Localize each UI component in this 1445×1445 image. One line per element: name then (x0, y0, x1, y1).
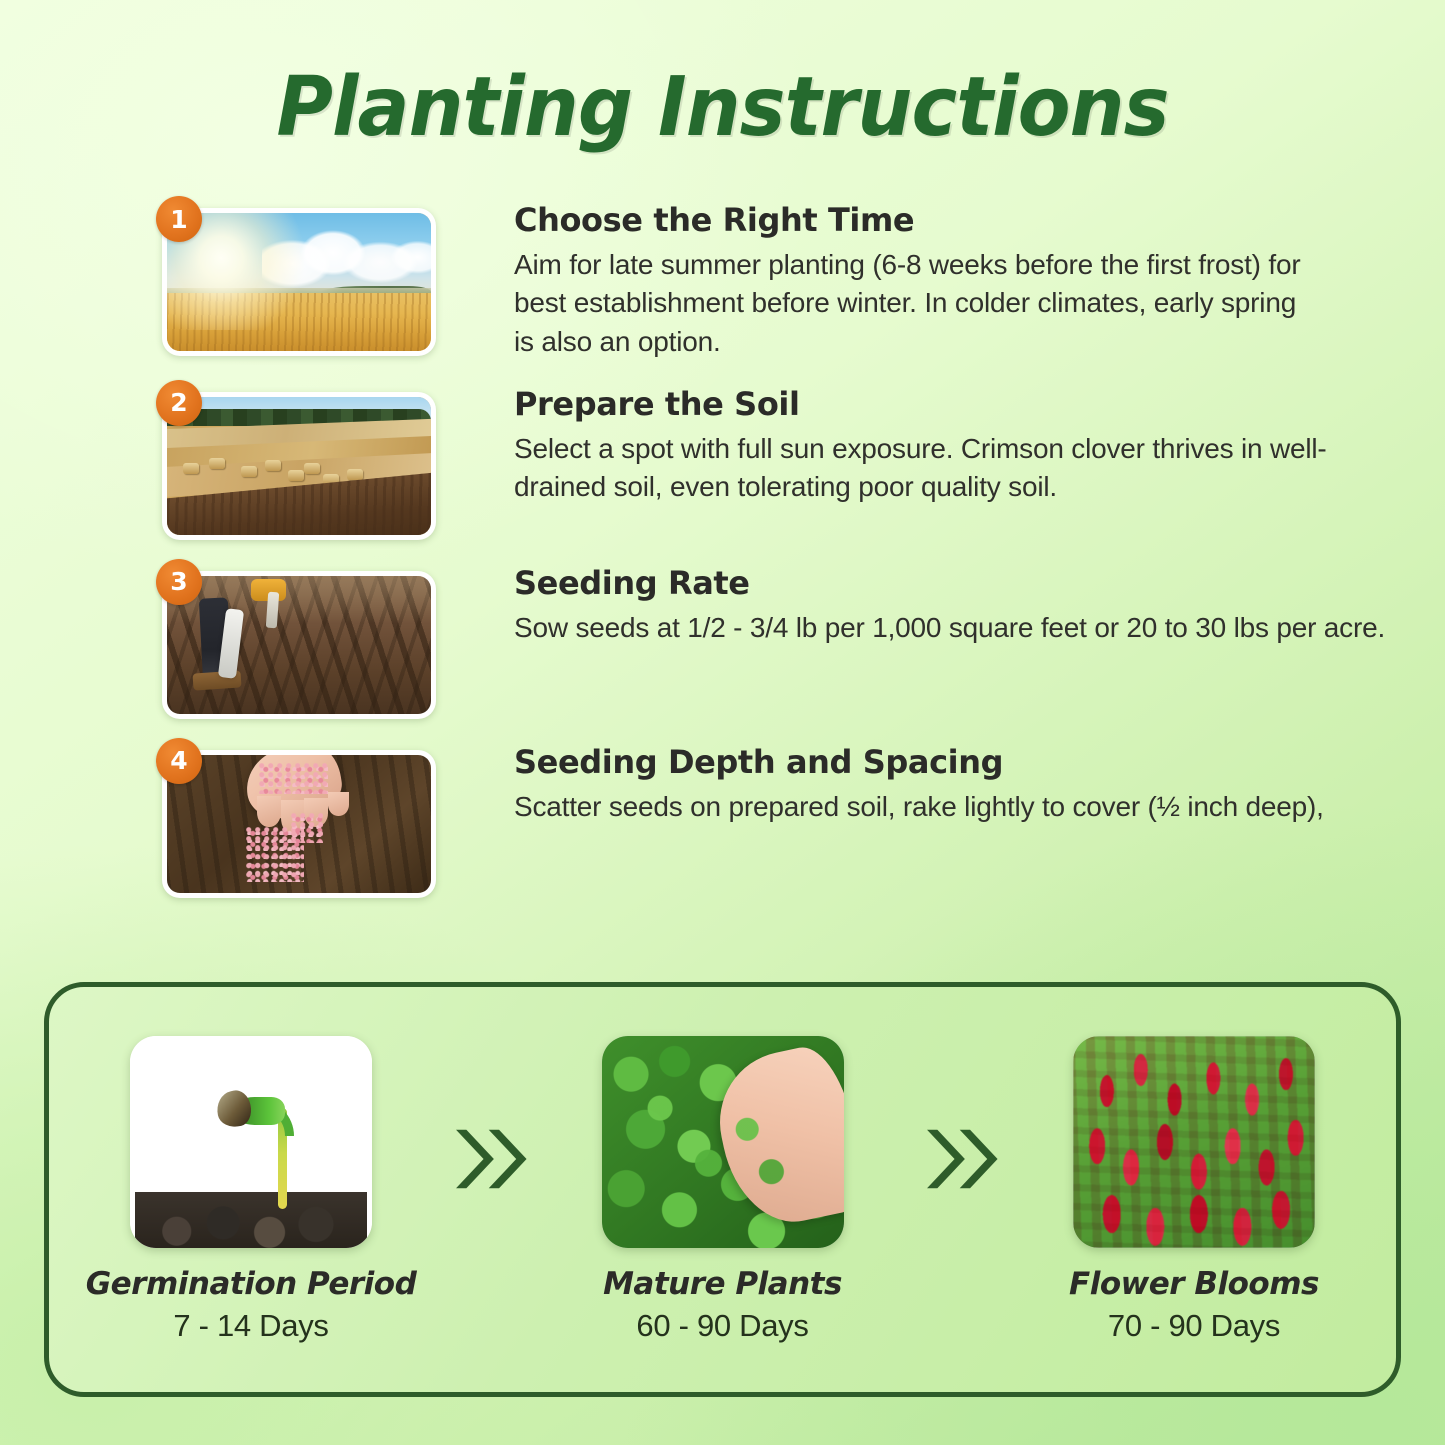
double-chevron-right-icon (915, 1116, 1001, 1202)
step-3-thumbnail-wrap: 3 (152, 559, 436, 719)
step-2-thumbnail-wrap: 2 (152, 380, 436, 540)
hand-scattering-seeds-image (167, 755, 431, 893)
seed-cluster (291, 813, 323, 843)
step-1-title: Choose the Right Time (514, 202, 1402, 239)
step-number-badge-3: 3 (156, 559, 202, 605)
step-number-badge-1: 1 (156, 196, 202, 242)
seedling-sprout-image (130, 1036, 372, 1248)
step-4-thumbnail (162, 750, 436, 898)
step-1-body: Aim for late summer planting (6-8 weeks … (514, 246, 1314, 361)
growth-timeline-panel: Germination Period 7 - 14 Days Mature Pl… (44, 982, 1401, 1397)
seeder-tube-shape (266, 592, 279, 629)
soil-clumps-layer (135, 1192, 367, 1247)
step-item-3: 3 Seeding Rate Sow seeds at 1/2 - 3/4 lb… (152, 559, 1402, 719)
clover-patch-image (602, 1036, 844, 1248)
step-4-body: Scatter seeds on prepared soil, rake lig… (514, 788, 1402, 826)
mature-plants-value: 60 - 90 Days (636, 1308, 808, 1344)
step-number-badge-2: 2 (156, 380, 202, 426)
step-1-thumbnail (162, 208, 436, 356)
mature-plants-thumbnail (602, 1036, 844, 1248)
hay-bale (183, 463, 199, 474)
bloom-texture-overlay (1073, 1036, 1315, 1248)
page-title: Planting Instructions (43, 60, 1401, 155)
step-3-title: Seeding Rate (514, 565, 1402, 602)
step-3-thumbnail (162, 571, 436, 719)
hay-bale (209, 458, 225, 469)
step-2-thumbnail (162, 392, 436, 540)
wheat-field-image (167, 213, 431, 351)
planting-instructions-infographic: Planting Instructions 1 Choose (0, 0, 1445, 1445)
hand-shape (706, 1041, 843, 1234)
flower-blooms-thumbnail (1073, 1036, 1315, 1248)
hay-bale (241, 466, 257, 477)
mature-plants-label: Mature Plants (603, 1266, 842, 1302)
step-1-thumbnail-wrap: 1 (152, 196, 436, 356)
flower-blooms-value: 70 - 90 Days (1108, 1308, 1280, 1344)
seeding-furrow-image (167, 576, 431, 714)
flower-blooms-label: Flower Blooms (1069, 1266, 1319, 1302)
hay-bale (347, 469, 363, 480)
double-chevron-right-icon (444, 1116, 530, 1202)
germination-value: 7 - 14 Days (173, 1308, 328, 1344)
step-3-text: Seeding Rate Sow seeds at 1/2 - 3/4 lb p… (452, 559, 1402, 647)
hay-bale (288, 470, 304, 481)
hay-bale (265, 460, 281, 471)
step-item-2: 2 (152, 380, 1402, 540)
finger-shape (328, 792, 349, 815)
step-2-body: Select a spot with full sun exposure. Cr… (514, 430, 1402, 507)
timeline-stage-mature: Mature Plants 60 - 90 Days (573, 1036, 873, 1344)
step-number-badge-4: 4 (156, 738, 202, 784)
step-2-title: Prepare the Soil (514, 386, 1402, 423)
finger-shape (257, 796, 281, 826)
step-1-text: Choose the Right Time Aim for late summe… (452, 196, 1402, 361)
hay-bale-field-image (167, 397, 431, 535)
step-4-thumbnail-wrap: 4 (152, 738, 436, 898)
step-4-title: Seeding Depth and Spacing (514, 744, 1402, 781)
steps-list: 1 Choose the Right Time Aim for late sum… (152, 196, 1402, 917)
timeline-stage-germination: Germination Period 7 - 14 Days (101, 1036, 401, 1344)
seed-cluster (259, 763, 328, 793)
timeline-stage-bloom: Flower Blooms 70 - 90 Days (1044, 1036, 1344, 1344)
step-item-4: 4 Seeding Depth and Spacing (152, 738, 1402, 898)
germination-label: Germination Period (86, 1266, 417, 1302)
step-3-body: Sow seeds at 1/2 - 3/4 lb per 1,000 squa… (514, 609, 1402, 647)
hay-bale (304, 463, 320, 474)
step-4-text: Seeding Depth and Spacing Scatter seeds … (452, 738, 1402, 826)
germination-thumbnail (130, 1036, 372, 1248)
crimson-clover-blooms-image (1073, 1036, 1315, 1248)
step-item-1: 1 Choose the Right Time Aim for late sum… (152, 196, 1402, 361)
step-2-text: Prepare the Soil Select a spot with full… (452, 380, 1402, 507)
